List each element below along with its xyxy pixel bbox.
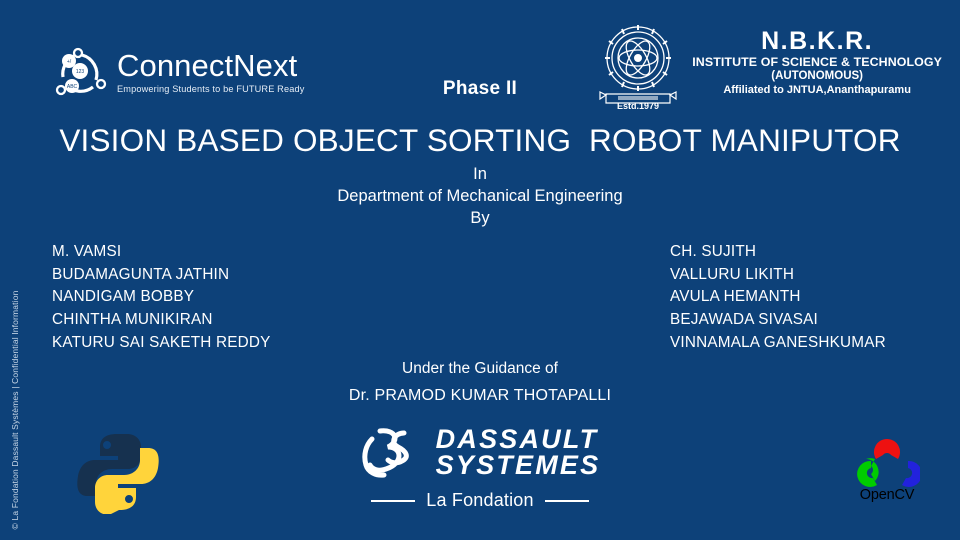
list-item: CH. SUJITH <box>670 241 886 264</box>
list-item: M. VAMSI <box>52 241 271 264</box>
by-label: By <box>0 208 960 230</box>
in-label: In <box>0 164 960 186</box>
python-logo-icon <box>74 430 162 514</box>
opencv-logo: OpenCV <box>848 437 926 513</box>
student-list-right: CH. SUJITH VALLURU LIKITH AVULA HEMANTH … <box>670 241 886 354</box>
confidential-note: © La Fondation Dassault Systèmes | Confi… <box>10 291 20 530</box>
institute-line1: INSTITUTE OF SCIENCE & TECHNOLOGY <box>692 55 942 69</box>
opencv-label: OpenCV <box>848 487 926 503</box>
rule-left <box>371 500 415 502</box>
svg-text:+/: +/ <box>67 59 72 65</box>
list-item: NANDIGAM BOBBY <box>52 286 271 309</box>
opencv-logo-icon <box>854 437 920 489</box>
list-item: KATURU SAI SAKETH REDDY <box>52 332 271 355</box>
nbkr-crest-icon: Estd.1979 <box>592 22 684 110</box>
rule-right <box>545 500 589 502</box>
list-item: BUDAMAGUNTA JATHIN <box>52 264 271 287</box>
connectnext-name: ConnectNext <box>117 50 305 81</box>
dassault-logo: DASSAULT SYSTEMES La Fondation <box>330 425 630 511</box>
institute-estd-label: Estd.1979 <box>617 101 659 110</box>
list-item: BEJAWADA SIVASAI <box>670 309 886 332</box>
presentation-slide: © La Fondation Dassault Systèmes | Confi… <box>0 0 960 540</box>
dassault-word-2: SYSTEMES <box>436 453 601 479</box>
student-list-left: M. VAMSI BUDAMAGUNTA JATHIN NANDIGAM BOB… <box>52 241 271 354</box>
institute-logo: Estd.1979 N.B.K.R. INSTITUTE OF SCIENCE … <box>592 22 942 110</box>
institute-line3: Affiliated to JNTUA,Ananthapuramu <box>692 84 942 96</box>
list-item: VINNAMALA GANESHKUMAR <box>670 332 886 355</box>
svg-text:123: 123 <box>76 69 85 75</box>
list-item: VALLURU LIKITH <box>670 264 886 287</box>
guidance-heading: Under the Guidance of <box>0 360 960 378</box>
list-item: AVULA HEMANTH <box>670 286 886 309</box>
dassault-3ds-icon <box>360 425 426 481</box>
guide-name: Dr. PRAMOD KUMAR THOTAPALLI <box>0 387 960 405</box>
list-item: CHINTHA MUNIKIRAN <box>52 309 271 332</box>
institute-name: N.B.K.R. <box>692 28 942 54</box>
page-title: VISION BASED OBJECT SORTING ROBOT MANIPU… <box>0 122 960 159</box>
guidance-block: Under the Guidance of Dr. PRAMOD KUMAR T… <box>0 360 960 405</box>
department-name: Department of Mechanical Engineering <box>0 186 960 208</box>
project-subtitle: In Department of Mechanical Engineering … <box>0 164 960 229</box>
institute-line2: (AUTONOMOUS) <box>692 70 942 82</box>
dassault-foundation-label: La Fondation <box>426 490 533 511</box>
